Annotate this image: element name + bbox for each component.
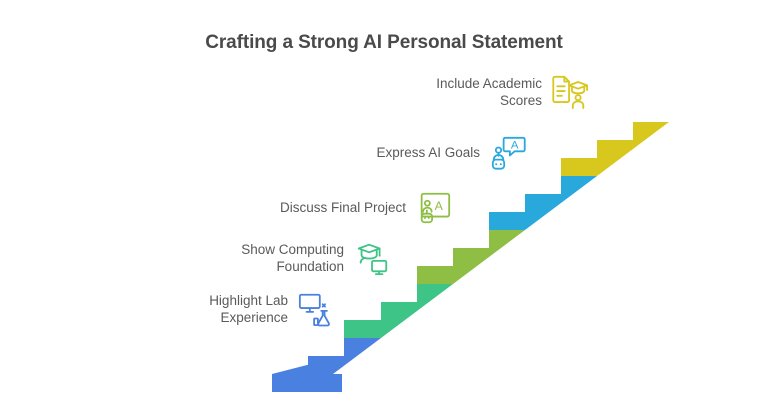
step-label-text: Express AI Goals <box>360 144 480 161</box>
svg-text:A: A <box>435 199 444 213</box>
wedge-olive <box>417 230 525 284</box>
wedge-green <box>344 284 453 338</box>
step-label-text: Highlight Lab Experience <box>178 292 288 327</box>
robot-speech-bubble-icon: A <box>489 134 527 172</box>
wedge-lightblue <box>489 176 597 230</box>
step-label-text: Discuss Final Project <box>266 199 406 216</box>
robot-board-icon: A <box>415 189 453 227</box>
step-label-express-ai-goals: Express AI Goals A <box>360 134 527 172</box>
step-label-text: Include Academic Scores <box>420 75 542 110</box>
step-label-show-computing-foundation: Show Computing Foundation <box>222 239 391 277</box>
step-label-text: Show Computing Foundation <box>222 241 344 276</box>
step-label-highlight-lab-experience: Highlight Lab Experience <box>178 290 335 328</box>
svg-text:A: A <box>511 139 519 151</box>
monitor-flask-icon <box>297 290 335 328</box>
document-graduate-icon <box>551 73 589 111</box>
step-label-discuss-final-project: Discuss Final Project A <box>266 189 453 227</box>
infographic-canvas: Crafting a Strong AI Personal Statement … <box>0 0 768 402</box>
step-label-include-academic-scores: Include Academic Scores <box>420 73 589 111</box>
wedge-yellow <box>561 122 669 176</box>
graduate-monitor-icon <box>353 239 391 277</box>
